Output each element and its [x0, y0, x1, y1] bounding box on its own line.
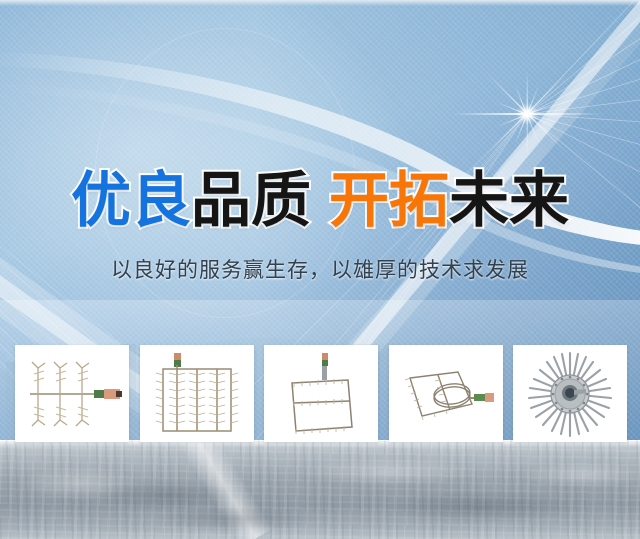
- product-image-1: [20, 354, 124, 434]
- ground-surface: [0, 440, 640, 539]
- product-card-row: [15, 345, 627, 442]
- product-image-2: [154, 351, 240, 437]
- subtitle: 以良好的服务赢生存，以雄厚的技术求发展: [0, 256, 640, 286]
- headline-part-blue: 优良: [71, 167, 191, 234]
- ground-blotch: [300, 458, 480, 486]
- product-image-5: [526, 350, 614, 438]
- headline-part-dark2: 未来: [449, 167, 569, 234]
- product-card-5[interactable]: [513, 345, 627, 442]
- headline-part-orange: 开拓: [329, 167, 449, 234]
- product-card-3[interactable]: [264, 345, 378, 442]
- ground-blotch: [150, 506, 320, 532]
- headline-part-dark: 品质: [191, 167, 311, 234]
- ground-blotch: [520, 462, 640, 488]
- banner-stage: 优良品质开拓未来 以良好的服务赢生存，以雄厚的技术求发展: [0, 0, 640, 539]
- product-card-4[interactable]: [389, 345, 503, 442]
- product-image-4: [396, 358, 496, 430]
- product-image-3: [278, 351, 364, 437]
- product-card-2[interactable]: [140, 345, 254, 442]
- product-card-1[interactable]: [15, 345, 129, 442]
- ground-blotch: [380, 490, 580, 524]
- headline: 优良品质开拓未来: [0, 168, 640, 234]
